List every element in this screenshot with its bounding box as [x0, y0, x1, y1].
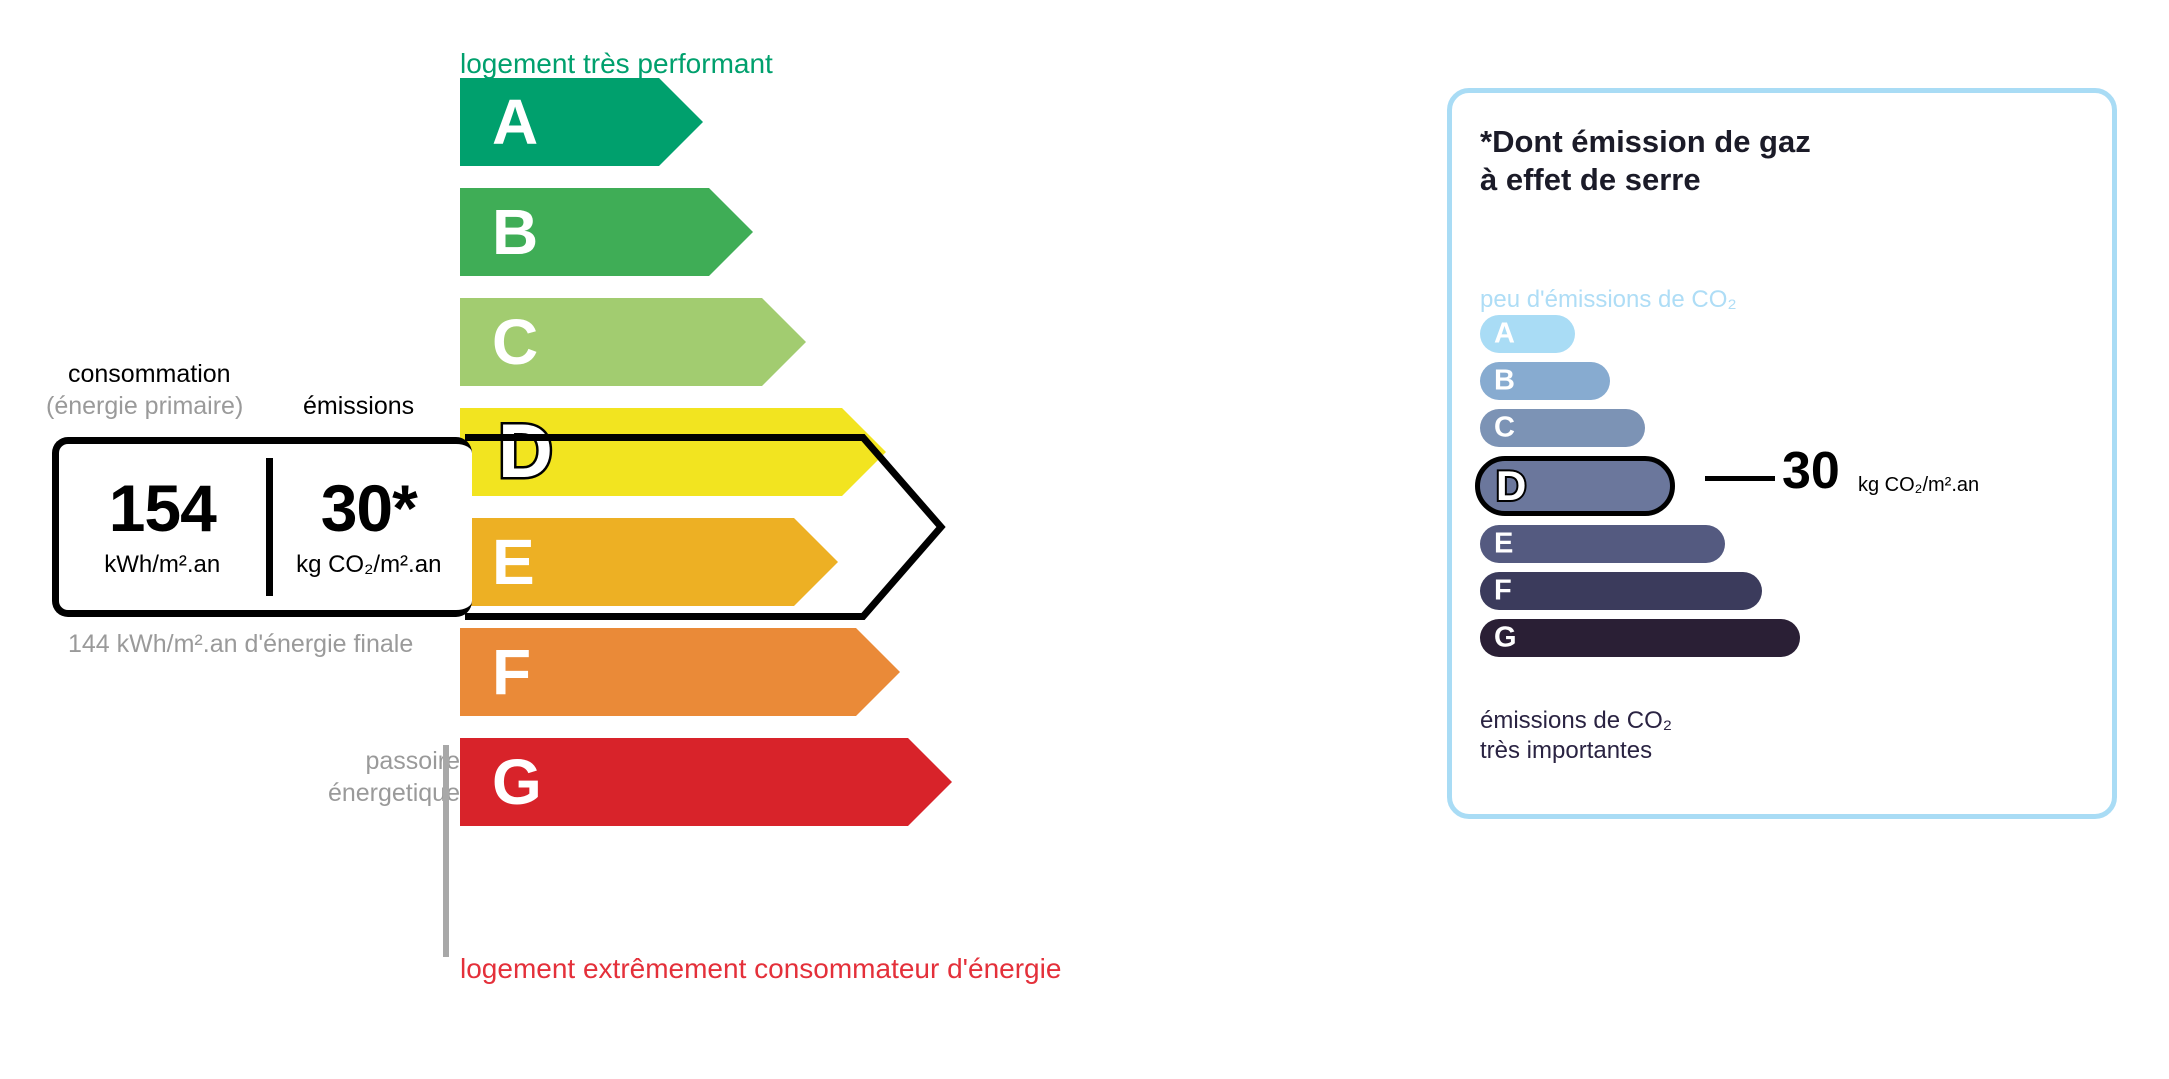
ges-letter-d: D [1496, 465, 1526, 507]
ges-callout-unit: kg CO₂/m².an [1858, 474, 1979, 497]
ges-row-d: D [1480, 456, 1800, 516]
final-energy-note: 144 kWh/m².an d'énergie finale [68, 628, 413, 660]
ges-caption-bottom: émissions de CO₂ très importantes [1480, 706, 1672, 766]
energy-arrow-b: B [460, 188, 952, 276]
passoire-energetique-bracket [443, 745, 449, 957]
ges-letter-b: B [1494, 367, 1515, 396]
label-consommation: consommation [68, 360, 231, 389]
energy-arrow-c: C [460, 298, 952, 386]
ges-panel-title: *Dont émission de gaz à effet de serre [1480, 123, 1811, 199]
label-energie-primaire: (énergie primaire) [46, 392, 243, 421]
energy-arrow-g: G [460, 738, 952, 826]
energy-row-a: A [460, 78, 952, 166]
energy-caption-bottom: logement extrêmement consommateur d'éner… [460, 953, 1061, 985]
ges-bar-b: B [1480, 362, 1610, 400]
energy-arrow-e: E [460, 518, 952, 606]
passoire-energetique-label: passoire énergetique [310, 745, 460, 809]
ges-bar-e: E [1480, 525, 1725, 563]
ges-bar-f: F [1480, 572, 1762, 610]
ges-letter-a: A [1494, 320, 1515, 349]
energy-caption-top: logement très performant [460, 48, 773, 80]
ges-bar-g: G [1480, 619, 1800, 657]
energy-arrow-list: ABCDEFG [460, 78, 952, 848]
ges-bar-d: D [1475, 456, 1675, 516]
energy-arrow-f: F [460, 628, 952, 716]
ges-row-c: C [1480, 409, 1800, 447]
consumption-value: 154 [109, 475, 216, 541]
ges-co2-panel: *Dont émission de gaz à effet de serre p… [1447, 88, 2117, 819]
ges-caption-top: peu d'émissions de CO₂ [1480, 286, 1737, 314]
ges-callout-value: 30 [1782, 445, 1840, 497]
value-cell-consommation: 154 kWh/m².an [59, 444, 266, 610]
energy-row-e: E [460, 518, 952, 606]
energy-row-d: D [460, 408, 952, 496]
ges-letter-c: C [1494, 414, 1515, 443]
dpe-energy-scale-panel: logement très performant ABCDEFG logemen… [0, 0, 1400, 1079]
ges-row-f: F [1480, 572, 1800, 610]
ges-row-b: B [1480, 362, 1800, 400]
ges-bar-list: ABCDEFG [1480, 315, 1800, 666]
energy-arrow-d: D [460, 408, 952, 496]
energy-row-f: F [460, 628, 952, 716]
ges-bar-a: A [1480, 315, 1575, 353]
emission-unit: kg CO₂/m².an [296, 551, 441, 579]
value-cell-emissions: 30* kg CO₂/m².an [266, 444, 473, 610]
ges-letter-g: G [1494, 624, 1517, 653]
ges-callout-leader-line [1705, 476, 1775, 481]
energy-row-b: B [460, 188, 952, 276]
ges-row-g: G [1480, 619, 1800, 657]
energy-row-c: C [460, 298, 952, 386]
ges-letter-f: F [1494, 577, 1512, 606]
energy-arrow-a: A [460, 78, 952, 166]
emission-value: 30* [321, 475, 417, 541]
ges-row-a: A [1480, 315, 1800, 353]
energy-row-g: G [460, 738, 952, 826]
ges-row-e: E [1480, 525, 1800, 563]
ges-letter-e: E [1494, 530, 1513, 559]
ges-bar-c: C [1480, 409, 1645, 447]
value-box: 154 kWh/m².an 30* kg CO₂/m².an [52, 437, 472, 617]
consumption-unit: kWh/m².an [104, 551, 220, 579]
label-emissions: émissions [303, 392, 414, 421]
